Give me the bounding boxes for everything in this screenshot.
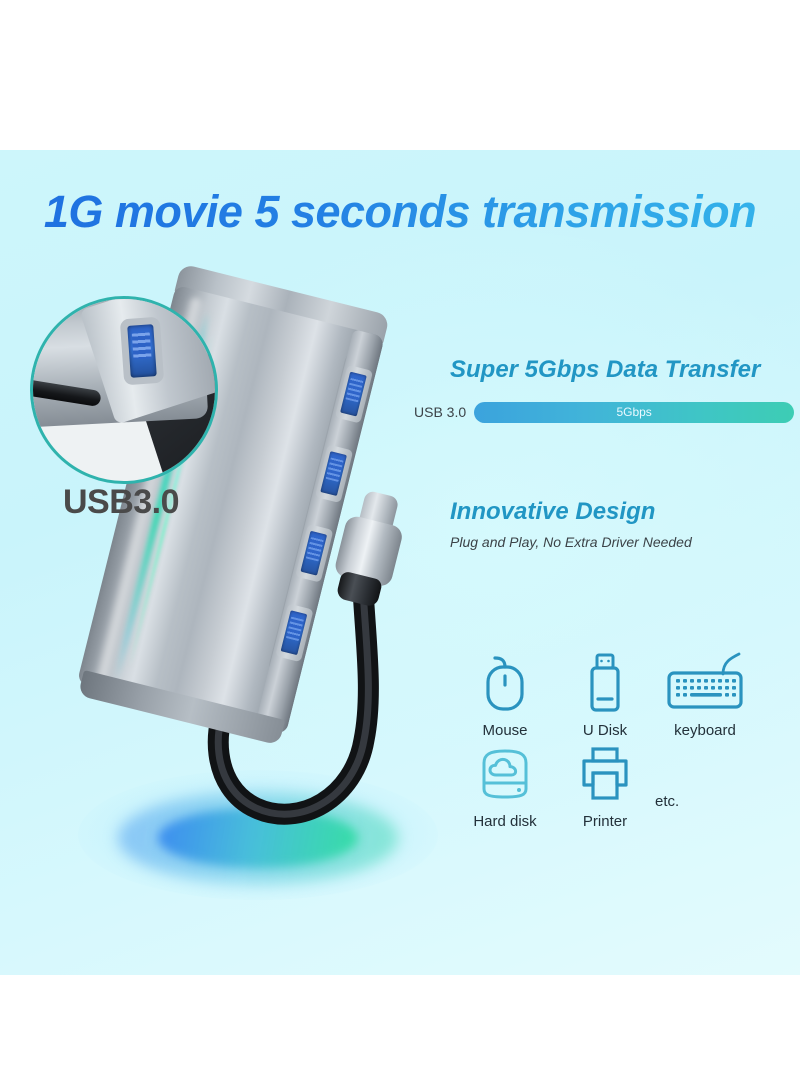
device-label: Mouse [482,722,527,739]
mouse-icon [481,654,529,712]
feature-subtitle: Plug and Play, No Extra Driver Needed [450,534,692,550]
page-title: 1G movie 5 seconds transmission [0,186,800,238]
feature-title: Innovative Design [450,498,692,526]
device-label: Hard disk [473,813,536,830]
product-banner: 1G movie 5 seconds transmission U [0,0,800,1091]
device-label: Printer [583,813,627,830]
device-label: U Disk [583,722,627,739]
device-label: keyboard [674,722,736,739]
magnified-usb-a-port [127,324,157,378]
keyboard-icon [665,652,745,714]
printer-icon [576,745,634,803]
device-row: Mouse U Disk [455,648,755,739]
usb3-inset-label: USB3.0 [30,483,212,522]
speed-bar-value: 5Gbps [616,405,651,419]
device-item-mouse: Mouse [455,648,555,739]
device-item-printer: Printer [555,739,655,830]
device-row: Hard disk Printer etc. [455,739,755,830]
feature-innovative-design: Innovative Design Plug and Play, No Extr… [450,498,692,550]
device-item-udisk: U Disk [555,648,655,739]
feature-title: Super 5Gbps Data Transfer [450,356,760,384]
feature-data-transfer: Super 5Gbps Data Transfer [450,356,760,384]
device-item-keyboard: keyboard [655,648,755,739]
speed-bar-label: USB 3.0 [414,404,466,420]
speed-bar-track: 5Gbps [474,402,794,423]
usb3-magnifier-inset [30,296,218,484]
device-item-hard-disk: Hard disk [455,739,555,830]
supported-devices: Mouse U Disk [455,648,755,830]
speed-bar-row: USB 3.0 5Gbps [414,399,800,425]
hard-disk-icon [476,745,534,803]
devices-etc-label: etc. [655,759,679,810]
usb-flash-drive-icon [585,652,625,714]
